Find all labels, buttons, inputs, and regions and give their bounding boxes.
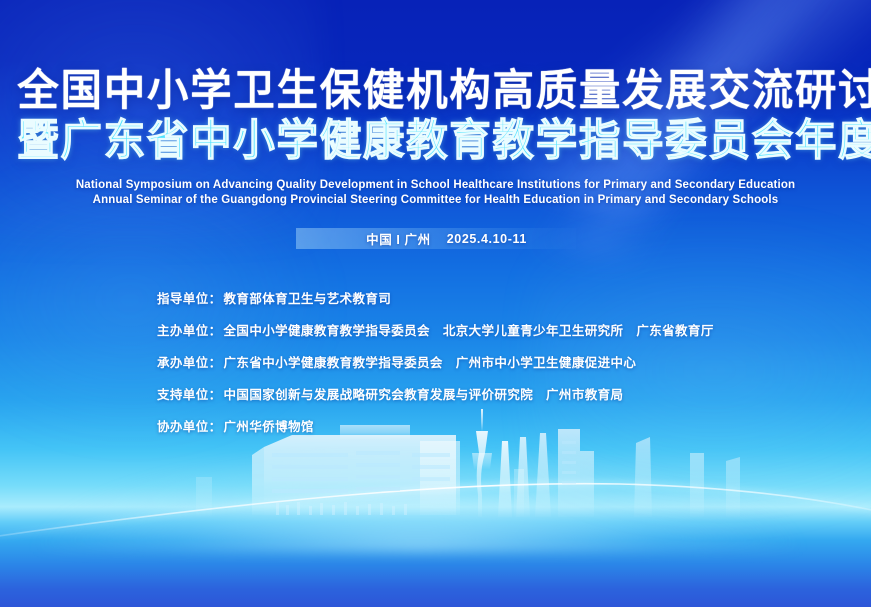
organizer-list: 指导单位： 教育部体育卫生与艺术教育司 主办单位： 全国中小学健康教育教学指导委… — [157, 288, 714, 448]
organizer-row-guidance: 指导单位： 教育部体育卫生与艺术教育司 — [157, 288, 714, 307]
organizer-row-undertaker: 承办单位： 广东省中小学健康教育教学指导委员会 广州市中小学卫生健康促进中心 — [157, 352, 714, 371]
organizer-value: 广州华侨博物馆 — [224, 416, 314, 435]
subtitle-line-2: Annual Seminar of the Guangdong Provinci… — [0, 193, 871, 208]
organizer-label: 主办单位： — [157, 320, 222, 339]
event-location: 中国 I 广州 — [366, 229, 431, 248]
organizer-value: 教育部体育卫生与艺术教育司 — [224, 288, 392, 307]
organizer-value: 广东省中小学健康教育教学指导委员会 广州市中小学卫生健康促进中心 — [224, 352, 637, 371]
conference-poster: 全国中小学卫生保健机构高质量发展交流研讨活动 暨广东省中小学健康教育教学指导委员… — [0, 0, 871, 607]
organizer-value: 中国国家创新与发展战略研究会教育发展与评价研究院 广州市教育局 — [224, 384, 624, 403]
distant-towers — [196, 437, 740, 517]
poster-subtitle-block: National Symposium on Advancing Quality … — [0, 178, 871, 208]
title-line-primary: 全国中小学卫生保健机构高质量发展交流研讨活动 — [17, 70, 853, 113]
event-date: 2025.4.10-11 — [447, 232, 527, 246]
organizer-label: 承办单位： — [157, 352, 222, 371]
organizer-row-host: 主办单位： 全国中小学健康教育教学指导委员会 北京大学儿童青少年卫生研究所 广东… — [157, 320, 714, 339]
event-info-bar: 中国 I 广州 2025.4.10-11 — [296, 228, 576, 249]
title-line-secondary: 暨广东省中小学健康教育教学指导委员会年度研讨活动 — [17, 120, 853, 163]
organizer-label: 支持单位： — [157, 384, 222, 403]
organizer-label: 协办单位： — [157, 416, 222, 435]
subtitle-line-1: National Symposium on Advancing Quality … — [0, 178, 871, 193]
organizer-label: 指导单位： — [157, 288, 222, 307]
poster-title-block: 全国中小学卫生保健机构高质量发展交流研讨活动 暨广东省中小学健康教育教学指导委员… — [0, 70, 871, 163]
organizer-row-coorganizer: 协办单位： 广州华侨博物馆 — [157, 416, 714, 435]
event-info-bar-wrapper: 中国 I 广州 2025.4.10-11 — [0, 228, 871, 249]
organizer-row-supporter: 支持单位： 中国国家创新与发展战略研究会教育发展与评价研究院 广州市教育局 — [157, 384, 714, 403]
organizer-value: 全国中小学健康教育教学指导委员会 北京大学儿童青少年卫生研究所 广东省教育厅 — [224, 320, 714, 339]
